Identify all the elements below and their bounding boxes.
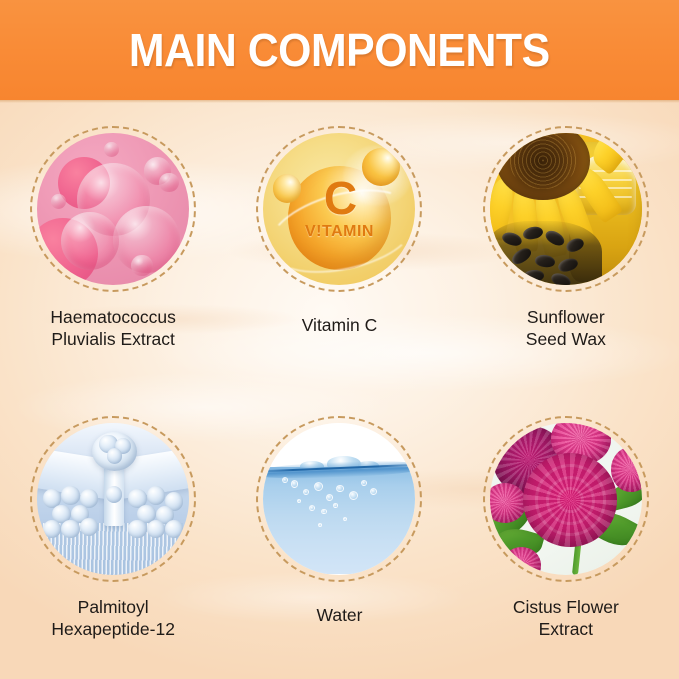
component-card-water[interactable]: Water (226, 390, 452, 679)
component-caption: Sunflower Seed Wax (461, 306, 671, 351)
page-title: MAIN COMPONENTS (129, 27, 550, 73)
components-grid: Haematococcus Pluvialis Extract C (0, 100, 679, 679)
component-caption: Vitamin C (234, 314, 444, 336)
sunflower-seeds-oil-image (490, 133, 642, 285)
blue-molecular-structure-image (37, 423, 189, 575)
component-image-ring (30, 416, 196, 582)
caption-line: Extract (461, 618, 671, 640)
component-caption: Palmitoyl Hexapeptide-12 (8, 596, 218, 641)
caption-line: Pluvialis Extract (8, 328, 218, 350)
caption-line: Hexapeptide-12 (8, 618, 218, 640)
caption-line: Sunflower (461, 306, 671, 328)
component-card-vitamin-c[interactable]: C V!TAMIN Vitamin C (226, 100, 452, 390)
component-card-palmitoyl-hexapeptide-12[interactable]: Palmitoyl Hexapeptide-12 (0, 390, 226, 679)
caption-line: Palmitoyl (8, 596, 218, 618)
pink-roses-image (490, 423, 642, 575)
component-caption: Haematococcus Pluvialis Extract (8, 306, 218, 351)
component-image-ring (256, 416, 422, 582)
caption-line: Water (234, 604, 444, 626)
component-image-ring (483, 126, 649, 292)
water-surface-bubbles-image (263, 423, 415, 575)
component-card-cistus-flower-extract[interactable]: Cistus Flower Extract (453, 390, 679, 679)
component-image-ring (483, 416, 649, 582)
caption-line: Haematococcus (8, 306, 218, 328)
component-image-ring (30, 126, 196, 292)
component-card-haematococcus-pluvialis-extract[interactable]: Haematococcus Pluvialis Extract (0, 100, 226, 390)
vitamin-c-droplet-image: C V!TAMIN (263, 133, 415, 285)
caption-line: Seed Wax (461, 328, 671, 350)
component-caption: Cistus Flower Extract (461, 596, 671, 641)
component-image-ring: C V!TAMIN (256, 126, 422, 292)
component-caption: Water (234, 604, 444, 626)
header-banner: MAIN COMPONENTS (0, 0, 679, 100)
pink-bubbles-image (37, 133, 189, 285)
component-card-sunflower-seed-wax[interactable]: Sunflower Seed Wax (453, 100, 679, 390)
caption-line: Vitamin C (234, 314, 444, 336)
infographic-page: MAIN COMPONENTS (0, 0, 679, 679)
caption-line: Cistus Flower (461, 596, 671, 618)
